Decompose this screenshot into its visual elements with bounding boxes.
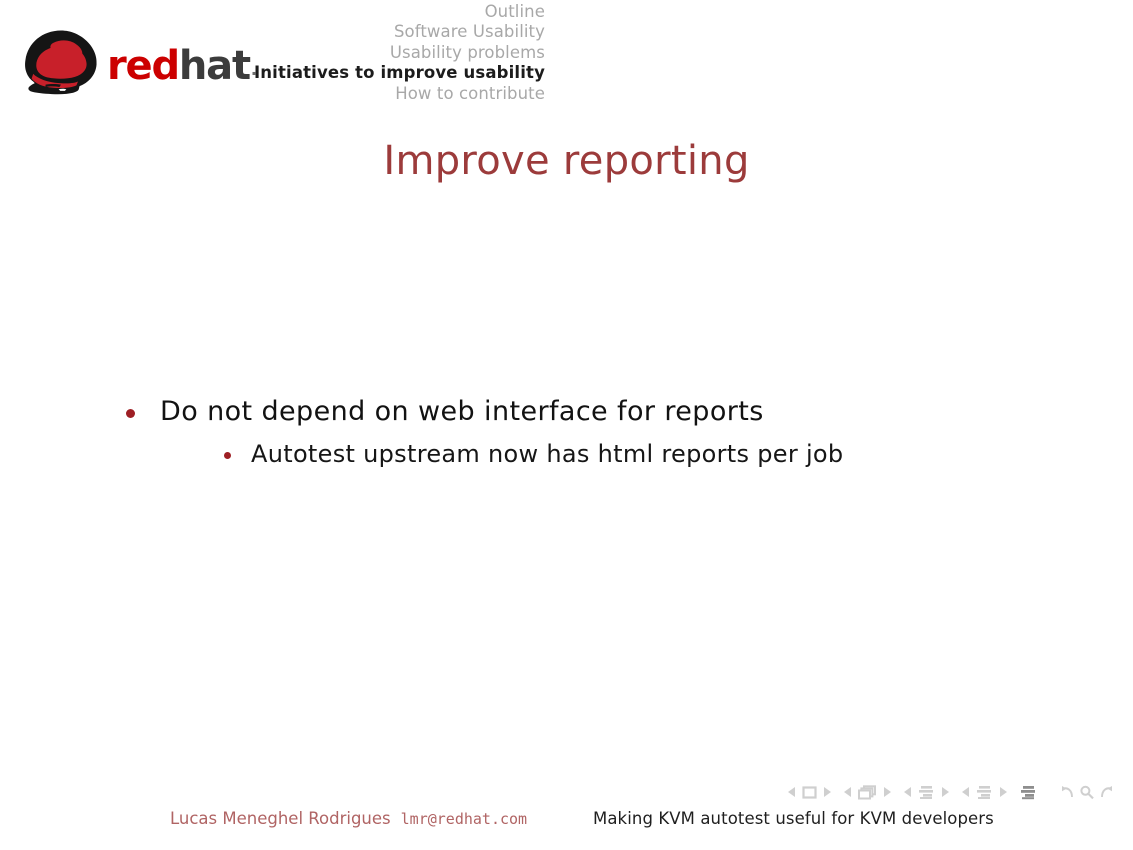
sidebar-item-initiatives-to-improve-usability[interactable]: Initiatives to improve usability [0,63,545,83]
subsection-nav-group [904,785,949,800]
slide-headline: redhat· Outline Software Usability Usabi… [0,0,1133,110]
section-icon[interactable] [976,785,993,800]
beamer-navigation-symbols [788,778,1115,806]
search-button-icon[interactable] [1079,785,1095,800]
list-item-label: Do not depend on web interface for repor… [160,396,764,427]
prev-slide-arrow-icon[interactable] [788,787,795,797]
presentation-icon[interactable] [1020,785,1037,800]
page-title: Improve reporting [0,138,1133,184]
footer-author: Lucas Meneghel Rodrigueslmr@redhat.com [170,809,527,828]
footer-author-name: Lucas Meneghel Rodrigues [170,809,391,828]
bullet-dot-icon [224,452,231,459]
sidebar-item-usability-problems[interactable]: Usability problems [0,43,545,63]
bullet-list-level-1: Do not depend on web interface for repor… [0,392,1133,472]
list-item: Do not depend on web interface for repor… [116,392,1133,472]
slide-nav-group [788,786,831,799]
next-frame-arrow-icon[interactable] [884,787,891,797]
back-button-icon[interactable] [1059,785,1075,800]
next-subsection-arrow-icon[interactable] [942,787,949,797]
slide-icon[interactable] [802,786,817,799]
bullet-dot-icon [126,409,135,418]
slide-footline: Lucas Meneghel Rodrigueslmr@redhat.com M… [0,778,1133,850]
prev-frame-arrow-icon[interactable] [844,787,851,797]
list-item: Autotest upstream now has html reports p… [212,437,1133,472]
bullet-list-level-2: Autotest upstream now has html reports p… [160,437,1133,472]
prev-subsection-arrow-icon[interactable] [904,787,911,797]
history-nav-group [1059,785,1115,800]
footline-text: Lucas Meneghel Rodrigueslmr@redhat.com M… [0,806,1133,840]
section-navigation: Outline Software Usability Usability pro… [0,2,545,104]
sidebar-item-how-to-contribute[interactable]: How to contribute [0,84,545,104]
footer-talk-title: Making KVM autotest useful for KVM devel… [593,809,994,828]
next-slide-arrow-icon[interactable] [824,787,831,797]
sidebar-item-outline[interactable]: Outline [0,2,545,22]
next-section-arrow-icon[interactable] [1000,787,1007,797]
subsection-icon[interactable] [918,785,935,800]
slide-content: Do not depend on web interface for repor… [0,392,1133,472]
prev-section-arrow-icon[interactable] [962,787,969,797]
sidebar-item-software-usability[interactable]: Software Usability [0,22,545,42]
presentation-nav-group [1020,785,1037,800]
frame-nav-group [844,785,891,800]
forward-button-icon[interactable] [1099,785,1115,800]
list-item-label: Autotest upstream now has html reports p… [251,440,843,468]
frame-icon[interactable] [858,785,877,800]
section-nav-group [962,785,1007,800]
footer-author-email: lmr@redhat.com [401,810,527,828]
